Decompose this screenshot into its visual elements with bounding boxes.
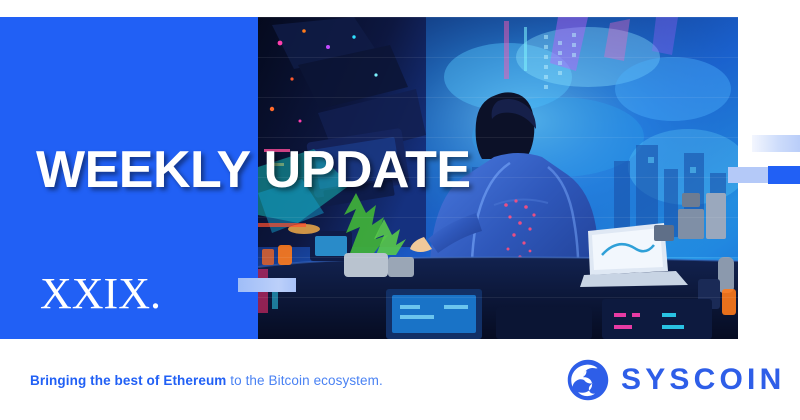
weekly-update-banner: WEEKLY UPDATE XXIX. Bringing the best of… [0,0,800,420]
page-title: WEEKLY UPDATE [36,144,471,196]
syscoin-logo: SYSCOIN [566,358,785,402]
left-accent-bar [238,278,296,292]
issue-number: XXIX. [40,272,161,316]
syscoin-wordmark: SYSCOIN [621,365,785,395]
right-soft-gradient-bar [752,135,800,152]
syscoin-swirl-s-icon [566,358,610,402]
tagline: Bringing the best of Ethereum to the Bit… [30,373,383,388]
tagline-bold-part: Bringing the best of Ethereum [30,373,226,388]
right-solid-blue-bar [768,166,800,184]
tagline-light-part: to the Bitcoin ecosystem. [226,373,382,388]
